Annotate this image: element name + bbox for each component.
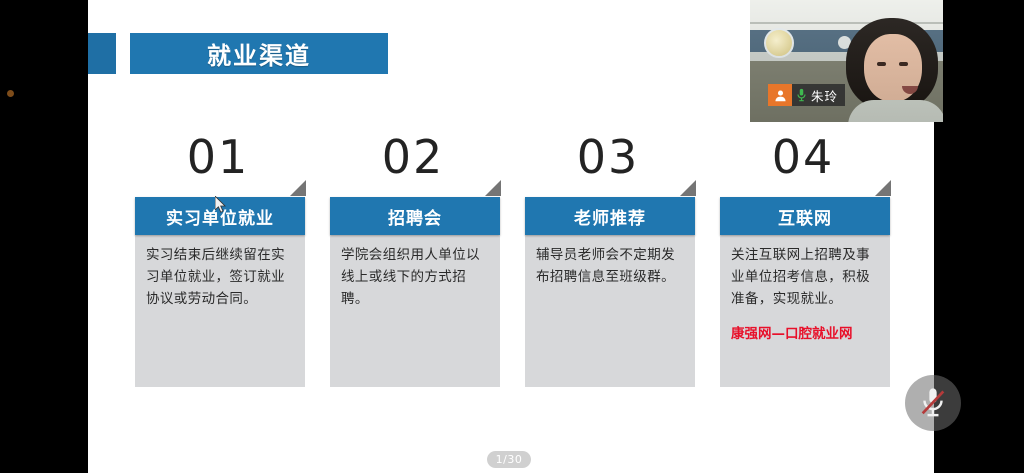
channel-card-02-heading: 招聘会 (330, 197, 500, 235)
title-accent-block (88, 33, 116, 74)
channel-card-03-body: 辅导员老师会不定期发布招聘信息至班级群。 (525, 235, 695, 387)
page-indicator: 1/30 (487, 451, 531, 468)
microphone-muted-icon (918, 386, 948, 420)
channel-card-04[interactable]: 互联网 关注互联网上招聘及事业单位招考信息，积极准备，实现就业。 康强网—口腔就… (720, 197, 890, 387)
screen-capture: 就业渠道 01 02 03 04 实习单位就业 实习结束后继续留在实习单位就业，… (0, 0, 1024, 473)
channel-card-03-text: 辅导员老师会不定期发布招聘信息至班级群。 (536, 245, 684, 289)
fold-accent-02 (485, 180, 501, 196)
participant-video-tile[interactable]: 朱玲 (750, 0, 943, 122)
channel-card-04-heading: 互联网 (720, 197, 890, 235)
channel-card-04-highlight: 康强网—口腔就业网 (731, 324, 879, 346)
participant-name: 朱玲 (811, 86, 838, 105)
fold-accent-01 (290, 180, 306, 196)
status-indicator-dot (7, 90, 14, 97)
card-number-03: 03 (543, 130, 673, 184)
slide-title-bar: 就业渠道 (130, 33, 388, 74)
microphone-icon (796, 88, 807, 102)
channel-card-03-heading: 老师推荐 (525, 197, 695, 235)
mouse-cursor (215, 196, 227, 214)
page-title: 就业渠道 (130, 33, 388, 74)
card-number-01: 01 (153, 130, 283, 184)
mute-toggle-button[interactable] (905, 375, 961, 431)
channel-card-02-body: 学院会组织用人单位以线上或线下的方式招聘。 (330, 235, 500, 387)
channel-card-03[interactable]: 老师推荐 辅导员老师会不定期发布招聘信息至班级群。 (525, 197, 695, 387)
channel-card-01-text: 实习结束后继续留在实习单位就业，签订就业协议或劳动合同。 (146, 245, 294, 311)
participant-name-badge: 朱玲 (768, 84, 845, 106)
channel-card-04-text: 关注互联网上招聘及事业单位招考信息，积极准备，实现就业。 (731, 245, 879, 311)
fold-accent-04 (875, 180, 891, 196)
channel-card-01[interactable]: 实习单位就业 实习结束后继续留在实习单位就业，签订就业协议或劳动合同。 (135, 197, 305, 387)
channel-card-02-text: 学院会组织用人单位以线上或线下的方式招聘。 (341, 245, 489, 311)
channel-card-01-body: 实习结束后继续留在实习单位就业，签订就业协议或劳动合同。 (135, 235, 305, 387)
channel-card-04-body: 关注互联网上招聘及事业单位招考信息，积极准备，实现就业。 康强网—口腔就业网 (720, 235, 890, 387)
participant-name-wrap: 朱玲 (792, 84, 845, 106)
person-icon (768, 84, 792, 106)
card-number-02: 02 (348, 130, 478, 184)
fold-accent-03 (680, 180, 696, 196)
channel-card-02[interactable]: 招聘会 学院会组织用人单位以线上或线下的方式招聘。 (330, 197, 500, 387)
card-number-04: 04 (738, 130, 868, 184)
